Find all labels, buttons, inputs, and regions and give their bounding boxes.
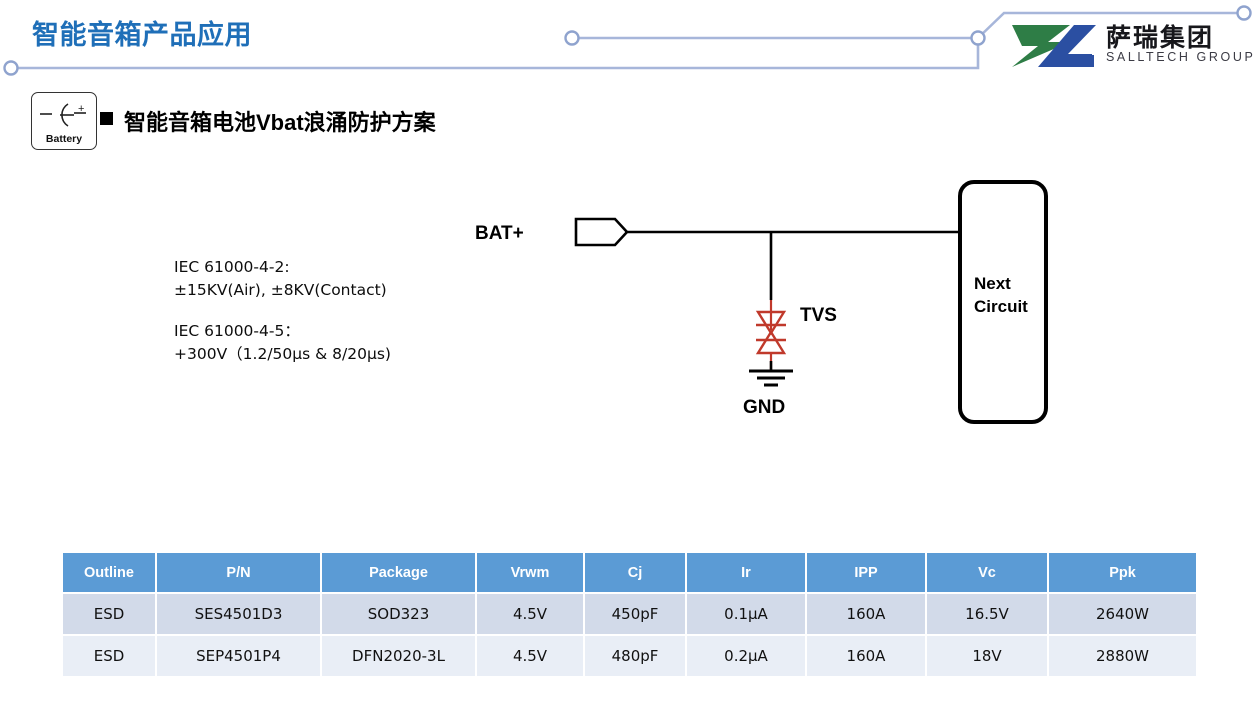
salltech-logo-mark	[1008, 22, 1096, 70]
table-header-ppk: Ppk	[1048, 553, 1196, 593]
deco-node-mid	[566, 32, 579, 45]
connector-flag-icon	[576, 219, 627, 245]
logo-english-name: SALLTECH GROUP	[1106, 50, 1255, 64]
table-row: ESD SES4501D3 SOD323 4.5V 450pF 0.1μA 16…	[63, 593, 1196, 635]
cell-ppk: 2640W	[1048, 593, 1196, 635]
cell-ir: 0.2μA	[686, 635, 806, 677]
spec-gap	[174, 302, 454, 320]
cell-outline: ESD	[63, 593, 156, 635]
next-circuit-line1: Next	[974, 274, 1011, 293]
cell-vrwm: 4.5V	[476, 635, 584, 677]
cell-ir: 0.1μA	[686, 593, 806, 635]
section-bullet-icon	[100, 112, 113, 125]
cell-package: SOD323	[321, 593, 476, 635]
cell-vc: 18V	[926, 635, 1048, 677]
cell-ipp: 160A	[806, 635, 926, 677]
spec-line-4: +300V（1.2/50μs & 8/20μs)	[174, 343, 454, 366]
standards-spec-block: IEC 61000-4-2: ±15KV(Air), ±8KV(Contact)…	[174, 256, 454, 366]
table-header-ir: Ir	[686, 553, 806, 593]
cell-cj: 450pF	[584, 593, 686, 635]
product-spec-table: Outline P/N Package Vrwm Cj Ir IPP Vc Pp…	[63, 553, 1196, 678]
battery-chip-label: Battery	[32, 133, 96, 145]
ground-icon	[749, 371, 793, 385]
battery-icon: +	[38, 101, 90, 131]
deco-node-right	[972, 32, 985, 45]
circuit-diagram: BAT+ TVS GND Next Circuit	[455, 175, 1075, 435]
logo-chinese-name: 萨瑞集团	[1106, 18, 1214, 54]
circuit-input-label: BAT+	[475, 223, 524, 244]
table-header-outline: Outline	[63, 553, 156, 593]
table-header-pn: P/N	[156, 553, 321, 593]
section-title: 智能音箱电池Vbat浪涌防护方案	[124, 105, 436, 137]
cell-pn: SEP4501P4	[156, 635, 321, 677]
cell-pn: SES4501D3	[156, 593, 321, 635]
spec-line-2: ±15KV(Air), ±8KV(Contact)	[174, 279, 454, 302]
tvs-label: TVS	[800, 305, 837, 326]
table-row: ESD SEP4501P4 DFN2020-3L 4.5V 480pF 0.2μ…	[63, 635, 1196, 677]
ground-label: GND	[743, 397, 785, 418]
cell-ipp: 160A	[806, 593, 926, 635]
battery-icon-chip: + Battery	[31, 92, 97, 150]
deco-node-left	[5, 62, 18, 75]
cell-vc: 16.5V	[926, 593, 1048, 635]
table-header-vrwm: Vrwm	[476, 553, 584, 593]
spec-line-3: IEC 61000-4-5：	[174, 320, 454, 343]
cell-outline: ESD	[63, 635, 156, 677]
cell-package: DFN2020-3L	[321, 635, 476, 677]
cell-vrwm: 4.5V	[476, 593, 584, 635]
table-header-package: Package	[321, 553, 476, 593]
table-header-cj: Cj	[584, 553, 686, 593]
next-circuit-line2: Circuit	[974, 297, 1028, 316]
cell-cj: 480pF	[584, 635, 686, 677]
table-header-ipp: IPP	[806, 553, 926, 593]
company-logo: 萨瑞集团 SALLTECH GROUP	[1008, 18, 1248, 74]
cell-ppk: 2880W	[1048, 635, 1196, 677]
table-header-row: Outline P/N Package Vrwm Cj Ir IPP Vc Pp…	[63, 553, 1196, 593]
svg-text:+: +	[78, 103, 84, 115]
table-header-vc: Vc	[926, 553, 1048, 593]
spec-line-1: IEC 61000-4-2:	[174, 256, 454, 279]
